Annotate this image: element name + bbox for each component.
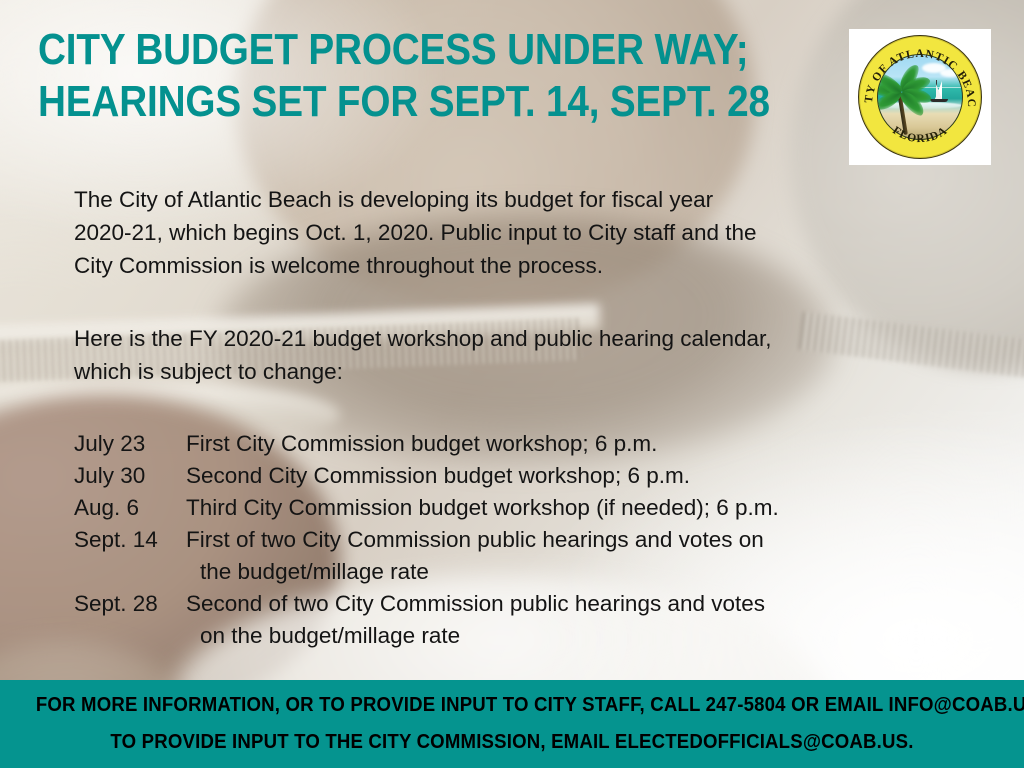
schedule-description-main: First of two City Commission public hear… — [186, 527, 764, 552]
contact-footer-banner: For more information, or to provide inpu… — [0, 680, 1024, 768]
schedule-description-continued: on the budget/millage rate — [186, 620, 974, 652]
seal-cloud-icon — [940, 69, 960, 77]
schedule-description: First City Commission budget workshop; 6… — [186, 428, 974, 460]
page-title-line-1: City Budget Process Under Way; — [38, 24, 733, 76]
calendar-lead-paragraph: Here is the FY 2020-21 budget workshop a… — [74, 322, 934, 388]
poster-canvas: City Budget Process Under Way; Hearings … — [0, 0, 1024, 768]
calendar-lead-line: which is subject to change: — [74, 355, 934, 388]
schedule-description-main: Third City Commission budget workshop (i… — [186, 495, 779, 520]
budget-calendar-list: July 23 First City Commission budget wor… — [74, 428, 974, 652]
schedule-date: July 23 — [74, 428, 186, 460]
list-item: Aug. 6 Third City Commission budget work… — [74, 492, 974, 524]
list-item: July 30 Second City Commission budget wo… — [74, 460, 974, 492]
sailboat-hull-icon — [930, 99, 948, 102]
list-item: July 23 First City Commission budget wor… — [74, 428, 974, 460]
list-item: Sept. 28 Second of two City Commission p… — [74, 588, 974, 652]
schedule-description-main: Second of two City Commission public hea… — [186, 591, 765, 616]
intro-line: 2020-21, which begins Oct. 1, 2020. Publ… — [74, 216, 934, 249]
schedule-date: Sept. 28 — [74, 588, 186, 620]
schedule-date: Aug. 6 — [74, 492, 186, 524]
schedule-date: July 30 — [74, 460, 186, 492]
intro-line: The City of Atlantic Beach is developing… — [74, 183, 934, 216]
sailboat-jib-icon — [936, 84, 942, 99]
schedule-description-continued: the budget/millage rate — [186, 556, 974, 588]
schedule-description: Third City Commission budget workshop (i… — [186, 492, 974, 524]
schedule-description: First of two City Commission public hear… — [186, 524, 974, 588]
schedule-description: Second of two City Commission public hea… — [186, 588, 974, 652]
city-seal-logo: CITY OF ATLANTIC BEACH FLORIDA — [849, 29, 991, 165]
city-seal-graphic: CITY OF ATLANTIC BEACH FLORIDA — [855, 35, 985, 159]
seal-beach-scene — [877, 54, 963, 140]
schedule-date: Sept. 14 — [74, 524, 186, 556]
schedule-description-main: First City Commission budget workshop; 6… — [186, 431, 657, 456]
footer-contact-line-1: For more information, or to provide inpu… — [36, 680, 988, 717]
calendar-lead-line: Here is the FY 2020-21 budget workshop a… — [74, 322, 934, 355]
page-title: City Budget Process Under Way; Hearings … — [38, 24, 733, 128]
schedule-description-main: Second City Commission budget workshop; … — [186, 463, 690, 488]
footer-contact-line-2: To provide input to the City Commission,… — [36, 717, 988, 754]
schedule-description: Second City Commission budget workshop; … — [186, 460, 974, 492]
intro-paragraph: The City of Atlantic Beach is developing… — [74, 183, 934, 282]
intro-line: City Commission is welcome throughout th… — [74, 249, 934, 282]
list-item: Sept. 14 First of two City Commission pu… — [74, 524, 974, 588]
page-title-line-2: Hearings Set for Sept. 14, Sept. 28 — [38, 76, 733, 128]
